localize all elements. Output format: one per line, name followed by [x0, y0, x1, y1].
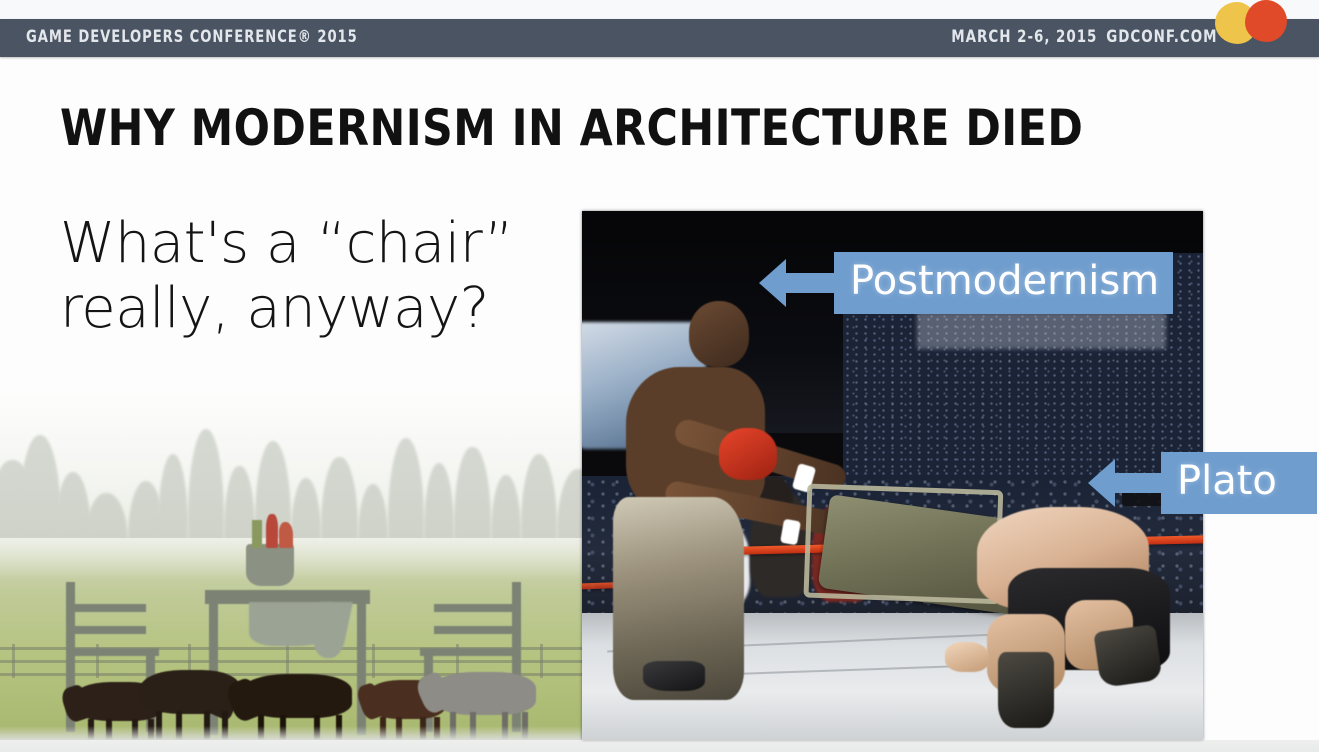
pot-plant — [252, 520, 262, 548]
giant-flowerpot — [246, 544, 294, 586]
slide-body-text: What's a “chair” really, anyway? — [60, 212, 580, 342]
conference-dates: MARCH 2-6, 2015 — [951, 27, 1097, 47]
fence-post — [12, 644, 15, 678]
giant-chairs-field-photo — [0, 392, 582, 740]
conference-name: GAME DEVELOPERS CONFERENCE® 2015 — [26, 27, 358, 47]
fence-post — [540, 644, 543, 678]
gdc-header-bar: GAME DEVELOPERS CONFERENCE® 2015 MARCH 2… — [0, 19, 1319, 57]
gdc-logo — [1215, 0, 1293, 46]
wrestler-a-head — [689, 301, 749, 367]
conference-dates-and-site: MARCH 2-6, 2015GDCONF.COM — [951, 27, 1217, 47]
callout-postmodernism: Postmodernism — [785, 252, 1173, 314]
pot-plant — [279, 522, 293, 548]
presentation-slide: GAME DEVELOPERS CONFERENCE® 2015 MARCH 2… — [0, 0, 1319, 752]
body-line-2: really, anyway? — [60, 277, 580, 342]
slide-title: WHY MODERNISM IN ARCHITECTURE DIED — [60, 99, 1083, 157]
logo-blob-orange-icon — [1245, 0, 1287, 42]
wrestler-swinging-chair — [613, 301, 824, 692]
conference-website: GDCONF.COM — [1106, 27, 1217, 47]
callout-arrow-left-icon — [1114, 473, 1162, 493]
wrestler-b-hand — [945, 642, 989, 672]
body-line-1: What's a “chair” — [60, 212, 580, 277]
pot-plant — [266, 514, 278, 548]
wrestler-b-boot — [998, 652, 1054, 728]
field-bottom-fade — [0, 726, 582, 740]
wrestler-a-boot — [643, 661, 705, 691]
fence-post — [372, 644, 375, 678]
wrestler-b-boot — [1093, 624, 1162, 688]
red-glove — [719, 428, 777, 480]
arena-sign — [917, 312, 1165, 349]
callout-arrow-left-icon — [785, 273, 835, 293]
slide-bottom-edge — [0, 740, 1319, 752]
callout-plato-label: Plato — [1161, 452, 1317, 514]
callout-postmodernism-label: Postmodernism — [834, 252, 1173, 314]
top-white-strip — [0, 0, 1319, 19]
callout-plato: Plato — [1114, 452, 1317, 514]
wrestler-kneeling — [930, 507, 1191, 740]
